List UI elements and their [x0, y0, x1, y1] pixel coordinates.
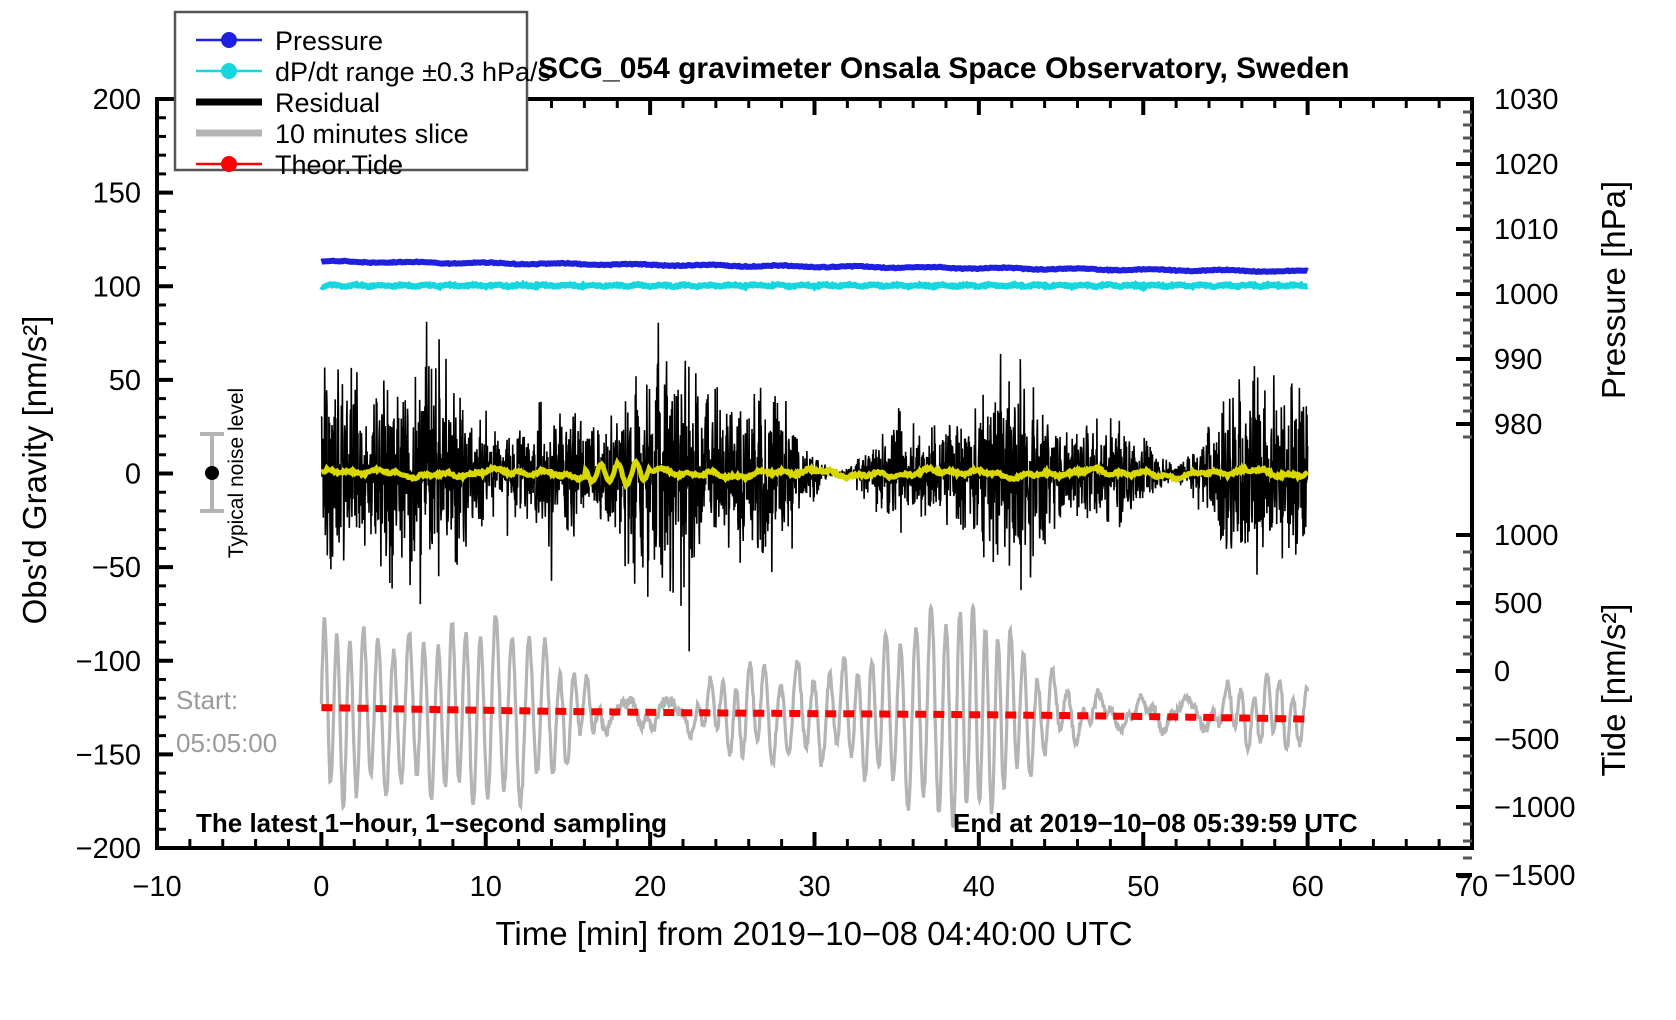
axis-tick-label: 200 — [93, 84, 141, 116]
axis-tick-label: 40 — [963, 871, 995, 903]
legend-label: Theor.Tide — [275, 150, 403, 180]
axis-tick-label: −50 — [92, 552, 141, 584]
axis-tick-label: 0 — [1494, 656, 1510, 688]
axis-tick-label: 10 — [470, 871, 502, 903]
axis-tick-label: 1010 — [1494, 214, 1559, 246]
axis-tick-label: −500 — [1494, 724, 1559, 756]
typical-noise-level-label: Typical noise level — [225, 388, 248, 558]
x-axis-title: Time [min] from 2019−10−08 04:40:00 UTC — [495, 915, 1132, 952]
axis-tick-label: 20 — [634, 871, 666, 903]
axis-tick-label: 150 — [93, 178, 141, 210]
axis-tick-label: 1030 — [1494, 84, 1559, 116]
axis-tick-label: 100 — [93, 271, 141, 303]
legend-label: Residual — [275, 88, 380, 118]
start-label: Start: — [176, 685, 238, 715]
axis-tick-label: 30 — [798, 871, 830, 903]
chart-title: SCG_054 gravimeter Onsala Space Observat… — [538, 52, 1350, 85]
sampling-note: The latest 1−hour, 1−second sampling — [196, 808, 667, 838]
chart-legend: PressuredP/dt range ±0.3 hPa/sResidual10… — [175, 12, 551, 180]
axis-tick-label: 980 — [1494, 409, 1542, 441]
left-axis-title: Obs'd Gravity [nm/s²] — [16, 316, 53, 625]
axis-tick-label: −100 — [76, 646, 141, 678]
axis-tick-label: −1000 — [1494, 792, 1575, 824]
axis-tick-label: 990 — [1494, 344, 1542, 376]
axis-tick-label: 60 — [1291, 871, 1323, 903]
legend-label: 10 minutes slice — [275, 119, 469, 149]
axis-tick-label: 50 — [1127, 871, 1159, 903]
right-top-axis-title: Pressure [hPa] — [1595, 181, 1632, 399]
axis-tick-label: −150 — [76, 739, 141, 771]
axis-tick-label: −10 — [132, 871, 181, 903]
axis-tick-label: 1020 — [1494, 149, 1559, 181]
chart-root: 200150100500−50−100−150−200−100102030405… — [0, 0, 1676, 1020]
legend-label: dP/dt range ±0.3 hPa/s — [275, 57, 551, 87]
gravimeter-chart: 200150100500−50−100−150−200−100102030405… — [0, 0, 1676, 1020]
legend-label: Pressure — [275, 26, 383, 56]
axis-tick-label: 500 — [1494, 588, 1542, 620]
start-time: 05:05:00 — [176, 728, 277, 758]
right-bottom-axis-title: Tide [nm/s²] — [1595, 604, 1632, 777]
axis-tick-label: −200 — [76, 833, 141, 865]
axis-tick-label: 0 — [313, 871, 329, 903]
end-note: End at 2019−10−08 05:39:59 UTC — [953, 808, 1358, 838]
axis-tick-label: 1000 — [1494, 520, 1559, 552]
axis-tick-label: 1000 — [1494, 279, 1559, 311]
series-dpdt-range — [321, 284, 1307, 287]
axis-tick-label: 0 — [125, 459, 141, 491]
axis-tick-label: 50 — [109, 365, 141, 397]
axis-tick-label: −1500 — [1494, 860, 1575, 892]
